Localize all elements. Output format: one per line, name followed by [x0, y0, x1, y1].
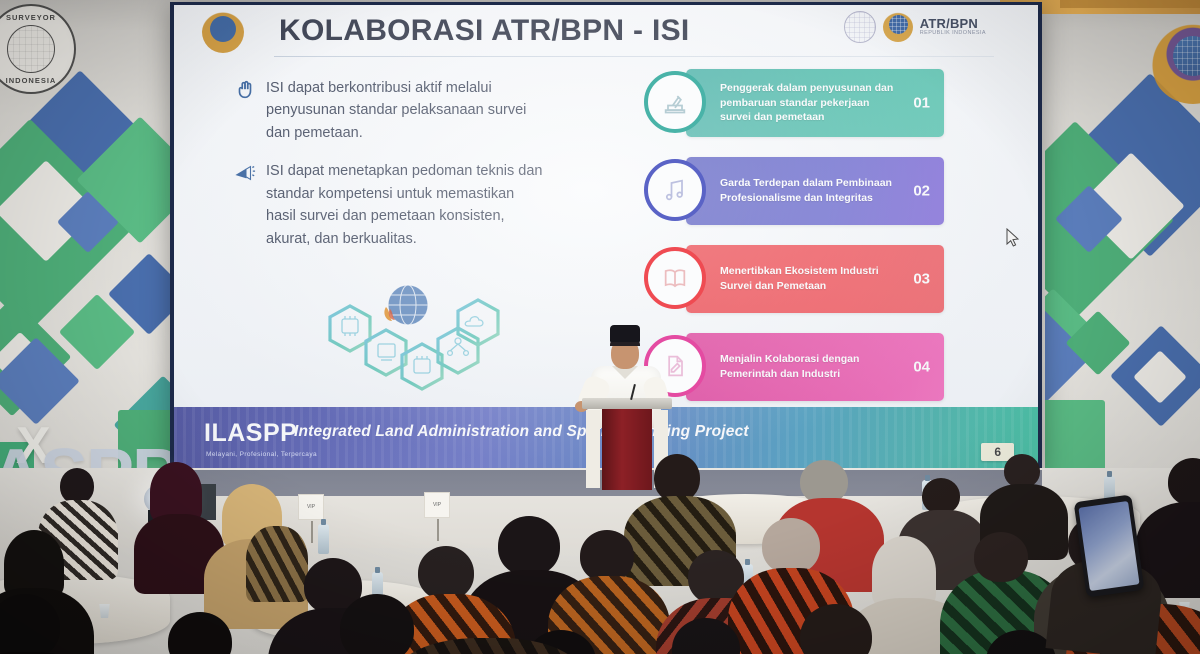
atr-bpn-brand-line1: ATR/BPN	[920, 17, 986, 31]
header-divider	[274, 56, 994, 57]
atr-bpn-globe-logo	[202, 11, 244, 53]
surveyor-indonesia-logo: SURVEYOR INDONESIA	[0, 4, 76, 94]
atr-bpn-brand-line2: REPUBLIK INDONESIA	[920, 31, 986, 37]
header-logo-group: ATR/BPN REPUBLIK INDONESIA	[844, 11, 986, 43]
card-text: Garda Terdepan dalam Pembinaan Profesion…	[720, 176, 898, 206]
surveyor-seal-icon	[844, 11, 876, 43]
atr-bpn-emblem-icon	[883, 12, 913, 42]
card-icon-ring	[644, 159, 706, 221]
atr-bpn-brand-text: ATR/BPN REPUBLIK INDONESIA	[920, 17, 986, 36]
card-number: 04	[913, 359, 930, 376]
bullet-text: ISI dapat berkontribusi aktif melalui pe…	[266, 77, 544, 144]
card-icon-ring	[644, 247, 706, 309]
screenshot-scene: SURVEYOR INDONESIA X ASPP KOLABORASI ATR…	[0, 0, 1200, 654]
card-body[interactable]: Menertibkan Ekosistem Industri Survei da…	[686, 245, 944, 313]
card-number: 02	[913, 183, 930, 200]
card-text: Menjalin Kolaborasi dengan Pemerintah da…	[720, 352, 898, 382]
card-body[interactable]: Garda Terdepan dalam Pembinaan Profesion…	[686, 157, 944, 225]
card-body[interactable]: Penggerak dalam penyusunan dan pembaruan…	[686, 69, 944, 137]
card-body[interactable]: Menjalin Kolaborasi dengan Pemerintah da…	[686, 333, 944, 401]
globe-icon	[7, 25, 55, 73]
card-number: 03	[913, 271, 930, 288]
surveyor-logo-top-text: SURVEYOR	[0, 13, 74, 22]
hexagon-technology-infographic	[292, 283, 522, 401]
ilaspp-subtitle: Integrated Land Administration and Spati…	[294, 423, 749, 441]
card-text: Menertibkan Ekosistem Industri Survei da…	[720, 264, 898, 294]
podium-top-surface	[582, 398, 672, 409]
bullet-text: ISI dapat menetapkan pedoman teknis dan …	[266, 160, 544, 250]
slide-header: KOLABORASI ATR/BPN - ISI ATR/BPN REPUBLI…	[174, 5, 1038, 63]
card-row[interactable]: Garda Terdepan dalam Pembinaan Profesion…	[644, 151, 944, 233]
card-number: 01	[913, 95, 930, 112]
numbered-card-list: Penggerak dalam penyusunan dan pembaruan…	[644, 63, 944, 415]
mouse-pointer	[1006, 228, 1020, 252]
bullet-item: ISI dapat menetapkan pedoman teknis dan …	[234, 160, 544, 250]
open-book-icon	[661, 264, 689, 292]
hand-pointer-icon	[234, 79, 256, 101]
presenter-peci-cap	[610, 325, 640, 342]
audience	[0, 454, 1200, 654]
music-note-icon	[661, 176, 689, 204]
card-row[interactable]: Menjalin Kolaborasi dengan Pemerintah da…	[644, 327, 944, 409]
slide-bullet-list: ISI dapat berkontribusi aktif melalui pe…	[234, 77, 544, 266]
card-row[interactable]: Menertibkan Ekosistem Industri Survei da…	[644, 239, 944, 321]
surveyor-logo-bottom-text: INDONESIA	[0, 76, 74, 85]
phone-screen	[1078, 501, 1139, 591]
ilaspp-brand: ILASPP	[204, 419, 297, 448]
megaphone-icon	[234, 162, 256, 184]
water-bottle	[318, 524, 329, 554]
stamp-icon	[661, 88, 689, 116]
bullet-item: ISI dapat berkontribusi aktif melalui pe…	[234, 77, 544, 144]
card-icon-ring	[644, 71, 706, 133]
slide-title: KOLABORASI ATR/BPN - ISI	[279, 14, 690, 48]
card-row[interactable]: Penggerak dalam penyusunan dan pembaruan…	[644, 63, 944, 145]
card-text: Penggerak dalam penyusunan dan pembaruan…	[720, 81, 898, 126]
